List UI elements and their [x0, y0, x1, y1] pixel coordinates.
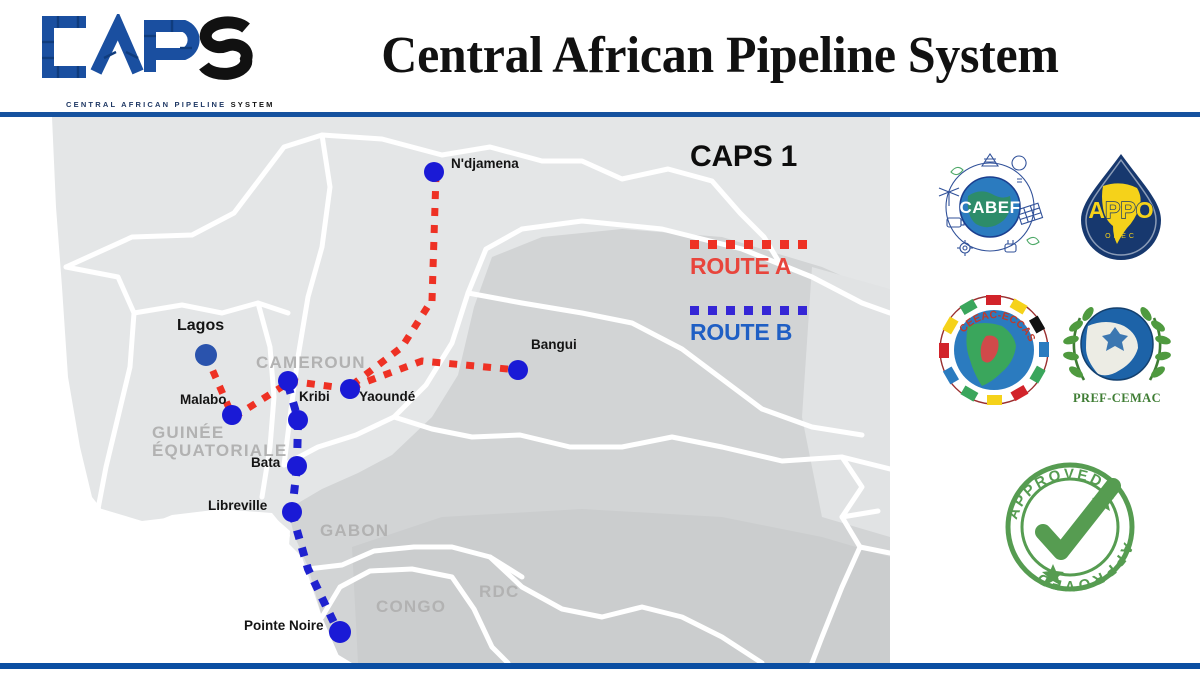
legend-entry-route-b[interactable]: ROUTE B [690, 306, 870, 346]
approved-stamp: APPROVED APPROVED [995, 452, 1145, 602]
logo-cabef[interactable]: CABEF [935, 152, 1045, 262]
city-label-lagos: Lagos [177, 317, 224, 335]
caps-logo-tagline-accent: SYSTEM [231, 100, 275, 109]
city-label-libreville: Libreville [208, 498, 267, 513]
legend-dash-route-a [690, 240, 810, 249]
svg-text:CABEF: CABEF [959, 198, 1020, 217]
pref-cemac-icon: PREF-CEMAC [1058, 292, 1176, 410]
ceeac-eccas-icon: CEEAC-ECCAS [938, 294, 1050, 406]
city-label-malabo: Malabo [180, 392, 227, 407]
legend-label-route-b: ROUTE B [690, 319, 870, 346]
country-label-cameroun: CAMEROUN [256, 353, 366, 372]
slide-root: CENTRAL AFRICAN PIPELINE SYSTEM Central … [0, 0, 1200, 675]
legend-dash-route-b [690, 306, 810, 315]
map-legend: CAPS 1 ROUTE A ROUTE B [690, 140, 870, 346]
appo-icon: APPO OPEC [1073, 150, 1169, 262]
city-label-bata: Bata [251, 455, 280, 470]
caps-logo-tagline: CENTRAL AFRICAN PIPELINE SYSTEM [66, 100, 288, 109]
legend-entry-route-a[interactable]: ROUTE A [690, 240, 870, 280]
city-label-kribi: Kribi [299, 389, 330, 404]
country-label-guinee: GUINÉE [152, 423, 224, 442]
city-label-bangui: Bangui [531, 337, 577, 352]
city-label-yaounde: Yaoundé [359, 389, 415, 404]
country-label-gabon: GABON [320, 521, 389, 540]
slide-header: CENTRAL AFRICAN PIPELINE SYSTEM Central … [0, 0, 1200, 112]
caps-logo-tagline-main: CENTRAL AFRICAN PIPELINE [66, 100, 231, 109]
approved-stamp-icon: APPROVED APPROVED [995, 452, 1145, 602]
city-label-pointe-noire: Pointe Noire [244, 618, 324, 633]
svg-text:PREF-CEMAC: PREF-CEMAC [1073, 391, 1161, 405]
legend-title: CAPS 1 [690, 140, 870, 174]
svg-text:OPEC: OPEC [1105, 233, 1137, 240]
country-label-congo: CONGO [376, 597, 446, 616]
logo-appo[interactable]: APPO OPEC [1073, 150, 1169, 262]
cabef-icon: CABEF [935, 152, 1045, 262]
svg-text:APPO: APPO [1088, 197, 1153, 223]
logo-ceeac-eccas[interactable]: CEEAC-ECCAS [938, 294, 1050, 406]
city-label-ndjamena: N'djamena [451, 156, 519, 171]
caps-logo-mark [34, 14, 260, 80]
caps-logo: CENTRAL AFRICAN PIPELINE SYSTEM [32, 14, 262, 104]
logo-pref-cemac[interactable]: PREF-CEMAC [1058, 292, 1176, 410]
legend-label-route-a: ROUTE A [690, 253, 870, 280]
page-title: Central African Pipeline System [288, 18, 1152, 94]
country-label-rdc: RDC [479, 582, 519, 601]
